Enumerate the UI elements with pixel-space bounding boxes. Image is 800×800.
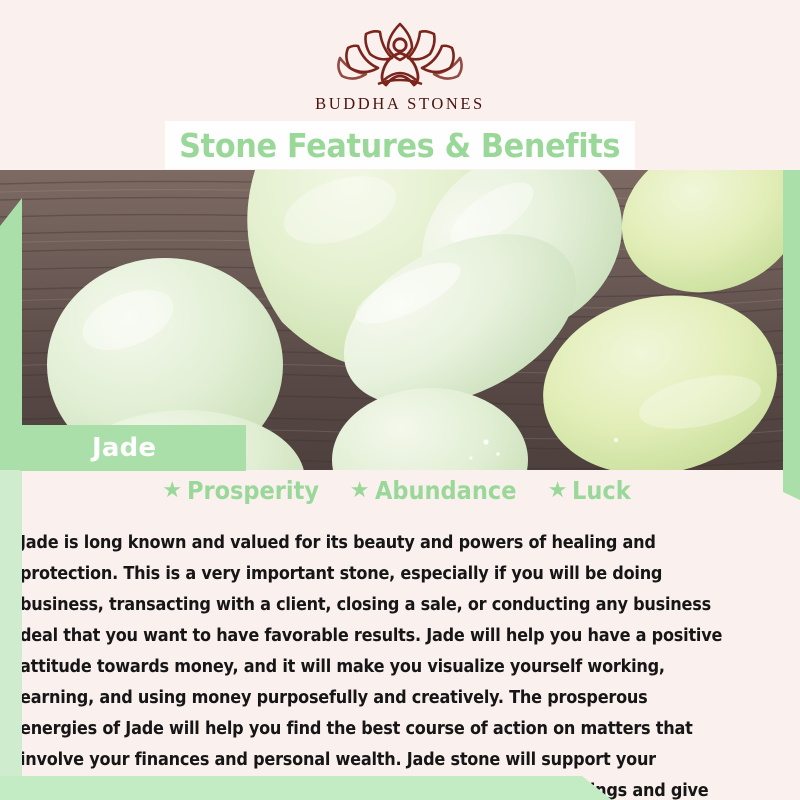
stone-infographic-card: BUDDHA STONES Stone Features & Benefits … bbox=[0, 0, 800, 800]
brand-logo: BUDDHA STONES bbox=[270, 18, 530, 114]
lotus-meditation-icon bbox=[334, 18, 466, 90]
page-title: Stone Features & Benefits bbox=[180, 129, 621, 162]
benefits-row: ★ Prosperity ★ Abundance ★ Luck bbox=[20, 478, 780, 503]
stone-name-label: Jade bbox=[20, 425, 246, 471]
benefit-label: Luck bbox=[572, 478, 631, 503]
star-icon: ★ bbox=[162, 479, 182, 501]
decor-accent-bottom bbox=[0, 776, 612, 800]
stone-name-text: Jade bbox=[92, 435, 156, 461]
benefit-label: Prosperity bbox=[187, 478, 319, 503]
star-icon: ★ bbox=[548, 479, 568, 501]
star-icon: ★ bbox=[350, 479, 370, 501]
benefit-item-luck: ★ Luck bbox=[548, 478, 638, 503]
benefit-item-abundance: ★ Abundance bbox=[350, 478, 532, 503]
benefit-label: Abundance bbox=[375, 478, 516, 503]
brand-name: BUDDHA STONES bbox=[270, 94, 530, 114]
decor-accent-left bbox=[0, 198, 22, 488]
benefit-item-prosperity: ★ Prosperity bbox=[162, 478, 333, 503]
decor-accent-left-lower bbox=[0, 470, 22, 782]
decor-accent-right bbox=[783, 152, 800, 500]
stone-description-panel: ★ Prosperity ★ Abundance ★ Luck Jade is … bbox=[20, 470, 800, 782]
section-title-banner: Stone Features & Benefits bbox=[165, 121, 635, 169]
stone-description-text: Jade is long known and valued for its be… bbox=[20, 528, 725, 800]
